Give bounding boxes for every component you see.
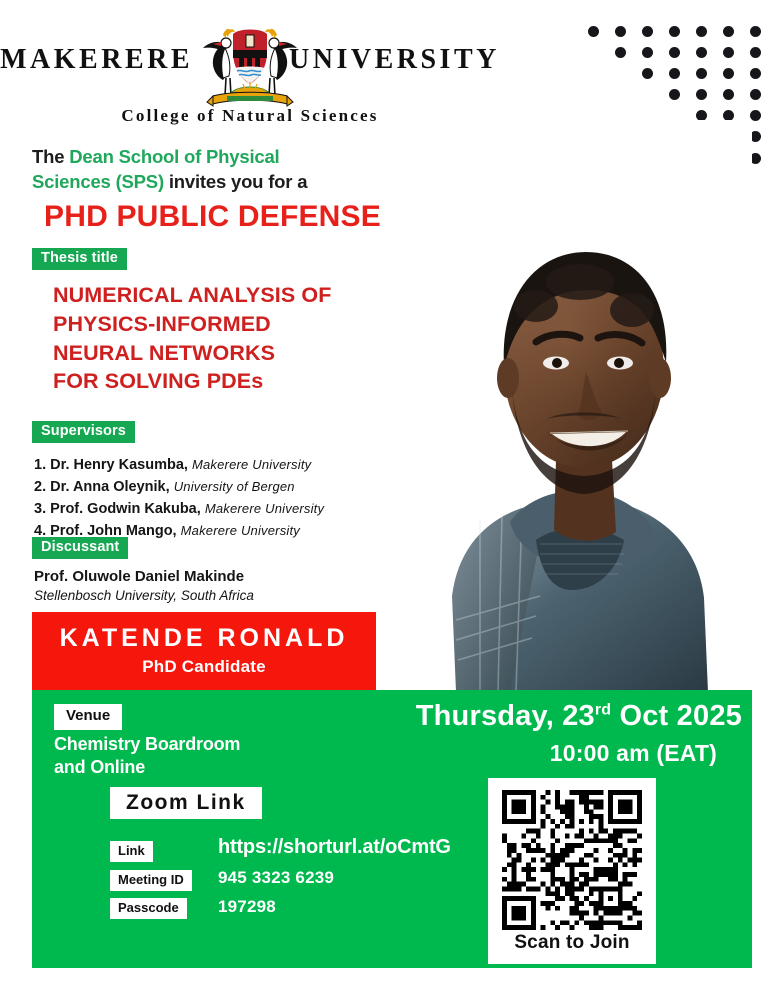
discussant-affiliation: Stellenbosch University, South Africa [34,587,374,605]
decorative-dot [750,26,761,37]
venue-line-1: Chemistry Boardroom [54,733,314,756]
decorative-dot [669,68,680,79]
event-date-day: Thursday, 23 [416,700,595,732]
decorative-dot [642,68,653,79]
supervisor-item: 1. Dr. Henry Kasumba, Makerere Universit… [34,454,374,476]
university-name-left: MAKERERE [0,44,193,75]
decorative-dot [696,26,707,37]
candidate-name: KATENDE RONALD [32,612,376,653]
discussant-badge: Discussant [32,537,128,559]
invitation-text: The Dean School of Physical Sciences (SP… [32,145,352,194]
supervisor-number: 2. [34,479,50,495]
supervisor-number: 1. [34,457,50,473]
event-time: 10:00 am (EAT) [282,740,717,767]
decorative-dot [723,26,734,37]
discussant-block: Prof. Oluwole Daniel Makinde Stellenbosc… [34,568,374,604]
decorative-dot [669,26,680,37]
decorative-dot [696,47,707,58]
thesis-title-line: FOR SOLVING PDEs [53,367,383,396]
supervisors-badge: Supervisors [32,421,135,443]
event-date: Thursday, 23rd Oct 2025 [282,700,742,733]
decorative-dot [723,47,734,58]
supervisor-affiliation: Makerere University [192,457,311,472]
venue-value: Chemistry Boardroom and Online [54,733,314,780]
decorative-dot [642,26,653,37]
decorative-dot [642,47,653,58]
zoom-link-heading: Zoom Link [110,787,262,819]
event-headline: PHD PUBLIC DEFENSE [44,200,381,234]
decorative-dot [750,47,761,58]
passcode-label: Passcode [110,898,187,919]
supervisor-name: Dr. Anna Oleynik, [50,479,174,495]
event-date-ordinal: rd [595,701,611,718]
thesis-title-line: NUMERICAL ANALYSIS OF [53,281,383,310]
thesis-title-line: NEURAL NETWORKS [53,339,383,368]
venue-line-2: and Online [54,756,314,779]
invitation-suffix: invites you for a [164,171,307,192]
decorative-dot [588,26,599,37]
supervisor-affiliation: University of Bergen [174,479,295,494]
supervisor-item: 2. Dr. Anna Oleynik, University of Berge… [34,476,374,498]
decorative-dot [669,89,680,100]
candidate-role: PhD Candidate [32,657,376,677]
qr-card[interactable]: Scan to Join [488,778,656,964]
qr-code-icon[interactable] [502,790,642,930]
decorative-dot [723,89,734,100]
supervisor-affiliation: Makerere University [181,523,300,538]
event-date-month-year: Oct 2025 [611,700,742,732]
qr-caption: Scan to Join [488,932,656,954]
decorative-dot [696,68,707,79]
supervisor-name: Dr. Henry Kasumba, [50,457,192,473]
supervisors-list: 1. Dr. Henry Kasumba, Makerere Universit… [34,454,374,542]
meeting-id-value[interactable]: 945 3323 6239 [218,868,334,888]
supervisor-affiliation: Makerere University [205,501,324,516]
poster-root: MAKEREREUNIVERSITY College of Natural Sc… [0,0,768,1004]
decorative-dot [669,47,680,58]
details-section: Venue Chemistry Boardroom and Online Zoo… [32,690,752,968]
thesis-title-text: NUMERICAL ANALYSIS OF PHYSICS-INFORMED N… [53,281,383,396]
zoom-link-label: Link [110,841,153,862]
invitation-highlight-line1: Dean School of Physical [69,146,279,167]
meeting-id-label: Meeting ID [110,870,192,891]
uganda-coat-of-arms-icon [199,22,301,114]
zoom-link-value[interactable]: https://shorturl.at/oCmtG [218,836,451,859]
venue-label: Venue [54,704,122,730]
candidate-photo [360,120,752,692]
decorative-dot [723,68,734,79]
university-name-right: UNIVERSITY [289,44,500,75]
supervisor-name: Prof. Godwin Kakuba, [50,501,205,517]
candidate-band: KATENDE RONALD PhD Candidate [32,612,376,690]
passcode-value[interactable]: 197298 [218,897,276,917]
invitation-prefix: The [32,146,69,167]
thesis-title-badge: Thesis title [32,248,127,270]
discussant-name: Prof. Oluwole Daniel Makinde [34,568,374,587]
thesis-title-line: PHYSICS-INFORMED [53,310,383,339]
invitation-highlight-line2: Sciences (SPS) [32,171,164,192]
decorative-dot [750,89,761,100]
decorative-dot [696,89,707,100]
decorative-dot [750,68,761,79]
decorative-dot [615,26,626,37]
decorative-dot [615,47,626,58]
supervisor-number: 3. [34,501,50,517]
candidate-photo-image [360,120,752,692]
supervisor-item: 3. Prof. Godwin Kakuba, Makerere Univers… [34,498,374,520]
